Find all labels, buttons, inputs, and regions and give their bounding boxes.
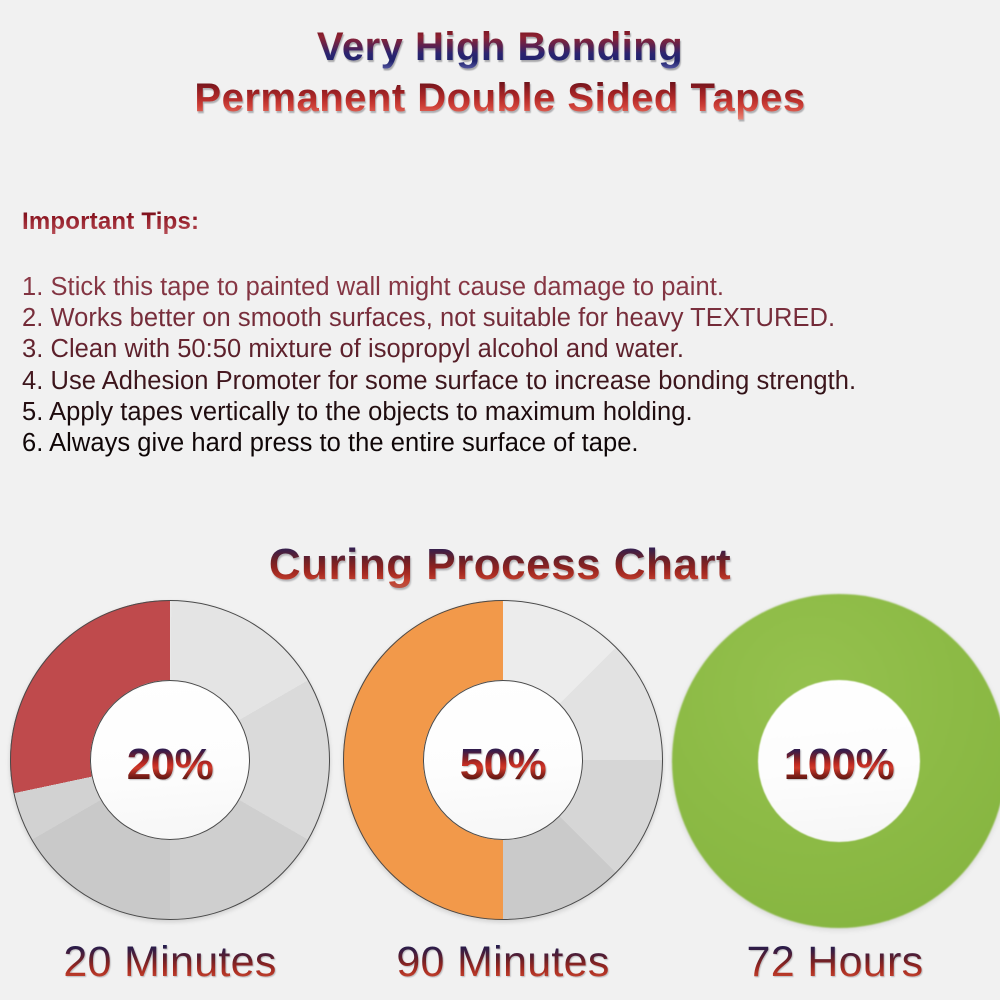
title-line-1-wrap: Very High Bonding [0,22,1000,72]
donut-label-20-minutes: 20 Minutes [10,938,330,987]
chart-title: Curing Process Chart [269,540,731,590]
title-line-2: Permanent Double Sided Tapes [194,72,805,124]
list-item: 2. Works better on smooth surfaces, not … [22,303,982,334]
donut-ring-1: 20% [10,600,330,920]
donut-chart-90-minutes: 50% [343,600,663,920]
list-item: 4. Use Adhesion Promoter for some surfac… [22,366,982,397]
donut-chart-group: 20% 50% 100% [0,600,1000,940]
list-item: 5. Apply tapes vertically to the objects… [22,397,982,428]
chart-title-wrap: Curing Process Chart [0,540,1000,590]
poster-root: Very High Bonding Permanent Double Sided… [0,0,1000,1000]
list-item: 3. Clean with 50:50 mixture of isopropyl… [22,334,982,365]
important-tips-heading: Important Tips: [22,208,199,236]
donut-label-90-minutes: 90 Minutes [343,938,663,987]
donut-chart-20-minutes: 20% [10,600,330,920]
list-item: 1. Stick this tape to painted wall might… [22,272,982,303]
donut-center-value-1: 20% [10,740,330,790]
donut-ring-3: 100% [672,594,1000,928]
poster-title: Very High Bonding Permanent Double Sided… [0,22,1000,124]
donut-center-value-3: 100% [672,740,1000,790]
donut-label-72-hours: 72 Hours [672,938,998,987]
donut-labels-row: 20 Minutes 90 Minutes 72 Hours [0,938,1000,1000]
donut-center-value-2: 50% [343,740,663,790]
donut-chart-72-hours: 100% [672,594,1000,928]
important-tips-list: 1. Stick this tape to painted wall might… [22,272,982,459]
title-line-1: Very High Bonding [317,22,683,72]
donut-ring-2: 50% [343,600,663,920]
list-item: 6. Always give hard press to the entire … [22,428,982,459]
title-line-2-wrap: Permanent Double Sided Tapes [0,72,1000,124]
